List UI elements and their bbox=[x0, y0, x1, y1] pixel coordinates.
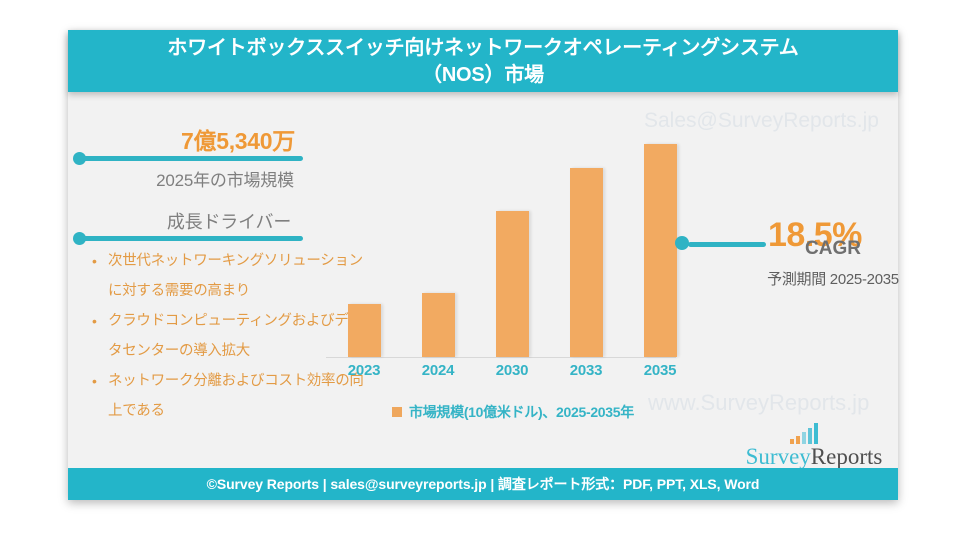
logo-bar-segment bbox=[802, 432, 806, 444]
chart-legend: 市場規模(10億米ドル)、2025-2035年 bbox=[348, 402, 678, 422]
chart-x-axis-labels: 20232024203020332035 bbox=[326, 362, 676, 386]
chart-plot-area bbox=[326, 130, 676, 358]
chart-x-axis bbox=[326, 357, 676, 358]
divider-line-2 bbox=[83, 236, 303, 241]
header-banner: ホワイトボックススイッチ向けネットワークオペレーティングシステム （NOS）市場 bbox=[68, 30, 898, 92]
list-item: • ネットワーク分離およびコスト効率の向上である bbox=[78, 366, 368, 426]
list-item-label: 次世代ネットワーキングソリューションに対する需要の高まり bbox=[108, 253, 363, 299]
list-item-label: クラウドコンピューティングおよびデータセンターの導入拡大 bbox=[108, 313, 363, 359]
chart-bar bbox=[496, 211, 529, 357]
logo-bar-segment bbox=[808, 428, 812, 444]
cagr-connector-dot-icon bbox=[675, 236, 689, 250]
chart-bar bbox=[422, 293, 455, 357]
cagr-forecast-period: 予測期間 2025-2035 bbox=[708, 268, 958, 289]
infographic-canvas: ホワイトボックススイッチ向けネットワークオペレーティングシステム （NOS）市場… bbox=[0, 0, 960, 540]
page-title: ホワイトボックススイッチ向けネットワークオペレーティングシステム （NOS）市場 bbox=[88, 35, 878, 89]
watermark-top: Sales@SurveyReports.jp bbox=[644, 109, 879, 133]
bullet-dot-icon: • bbox=[92, 306, 97, 336]
chart-bar bbox=[570, 168, 603, 357]
chart-x-label: 2033 bbox=[556, 362, 616, 379]
chart-x-label: 2030 bbox=[482, 362, 542, 379]
list-item: • 次世代ネットワーキングソリューションに対する需要の高まり bbox=[78, 246, 368, 306]
chart-x-label: 2023 bbox=[334, 362, 394, 379]
logo-bar-chart-icon bbox=[790, 422, 818, 444]
infographic-card: ホワイトボックススイッチ向けネットワークオペレーティングシステム （NOS）市場… bbox=[68, 30, 898, 500]
legend-swatch-icon bbox=[392, 407, 402, 417]
market-size-label: 2025年の市場規模 bbox=[100, 166, 350, 191]
chart-bar bbox=[644, 144, 677, 357]
logo-bar-segment bbox=[814, 423, 818, 444]
page-title-line1: ホワイトボックススイッチ向けネットワークオペレーティングシステム bbox=[88, 35, 878, 62]
logo-bar-segment bbox=[796, 436, 800, 444]
logo-name-secondary: Reports bbox=[811, 444, 883, 469]
logo-name-primary: Survey bbox=[746, 444, 811, 469]
list-item: • クラウドコンピューティングおよびデータセンターの導入拡大 bbox=[78, 306, 368, 366]
growth-drivers-title: 成長ドライバー bbox=[104, 208, 354, 234]
bullet-dot-icon: • bbox=[92, 246, 97, 276]
logo-wordmark: SurveyReports bbox=[714, 444, 914, 470]
growth-drivers-list: • 次世代ネットワーキングソリューションに対する需要の高まり • クラウドコンピ… bbox=[78, 246, 368, 426]
chart-x-label: 2035 bbox=[630, 362, 690, 379]
bullet-dot-icon: • bbox=[92, 366, 97, 396]
page-title-line2: （NOS）市場 bbox=[88, 62, 878, 89]
chart-bar bbox=[348, 304, 381, 357]
divider-line-1 bbox=[83, 156, 303, 161]
legend-label: 市場規模(10億米ドル)、2025-2035年 bbox=[409, 402, 634, 422]
footer-banner: ©Survey Reports | sales@surveyreports.jp… bbox=[68, 468, 898, 500]
watermark-bottom: www.SurveyReports.jp bbox=[648, 390, 869, 416]
market-size-bar-chart: 20232024203020332035 市場規模(10億米ドル)、2025-2… bbox=[326, 130, 676, 390]
cagr-label: CAGR bbox=[708, 238, 958, 260]
footer-text: ©Survey Reports | sales@surveyreports.jp… bbox=[207, 474, 760, 494]
chart-x-label: 2024 bbox=[408, 362, 468, 379]
